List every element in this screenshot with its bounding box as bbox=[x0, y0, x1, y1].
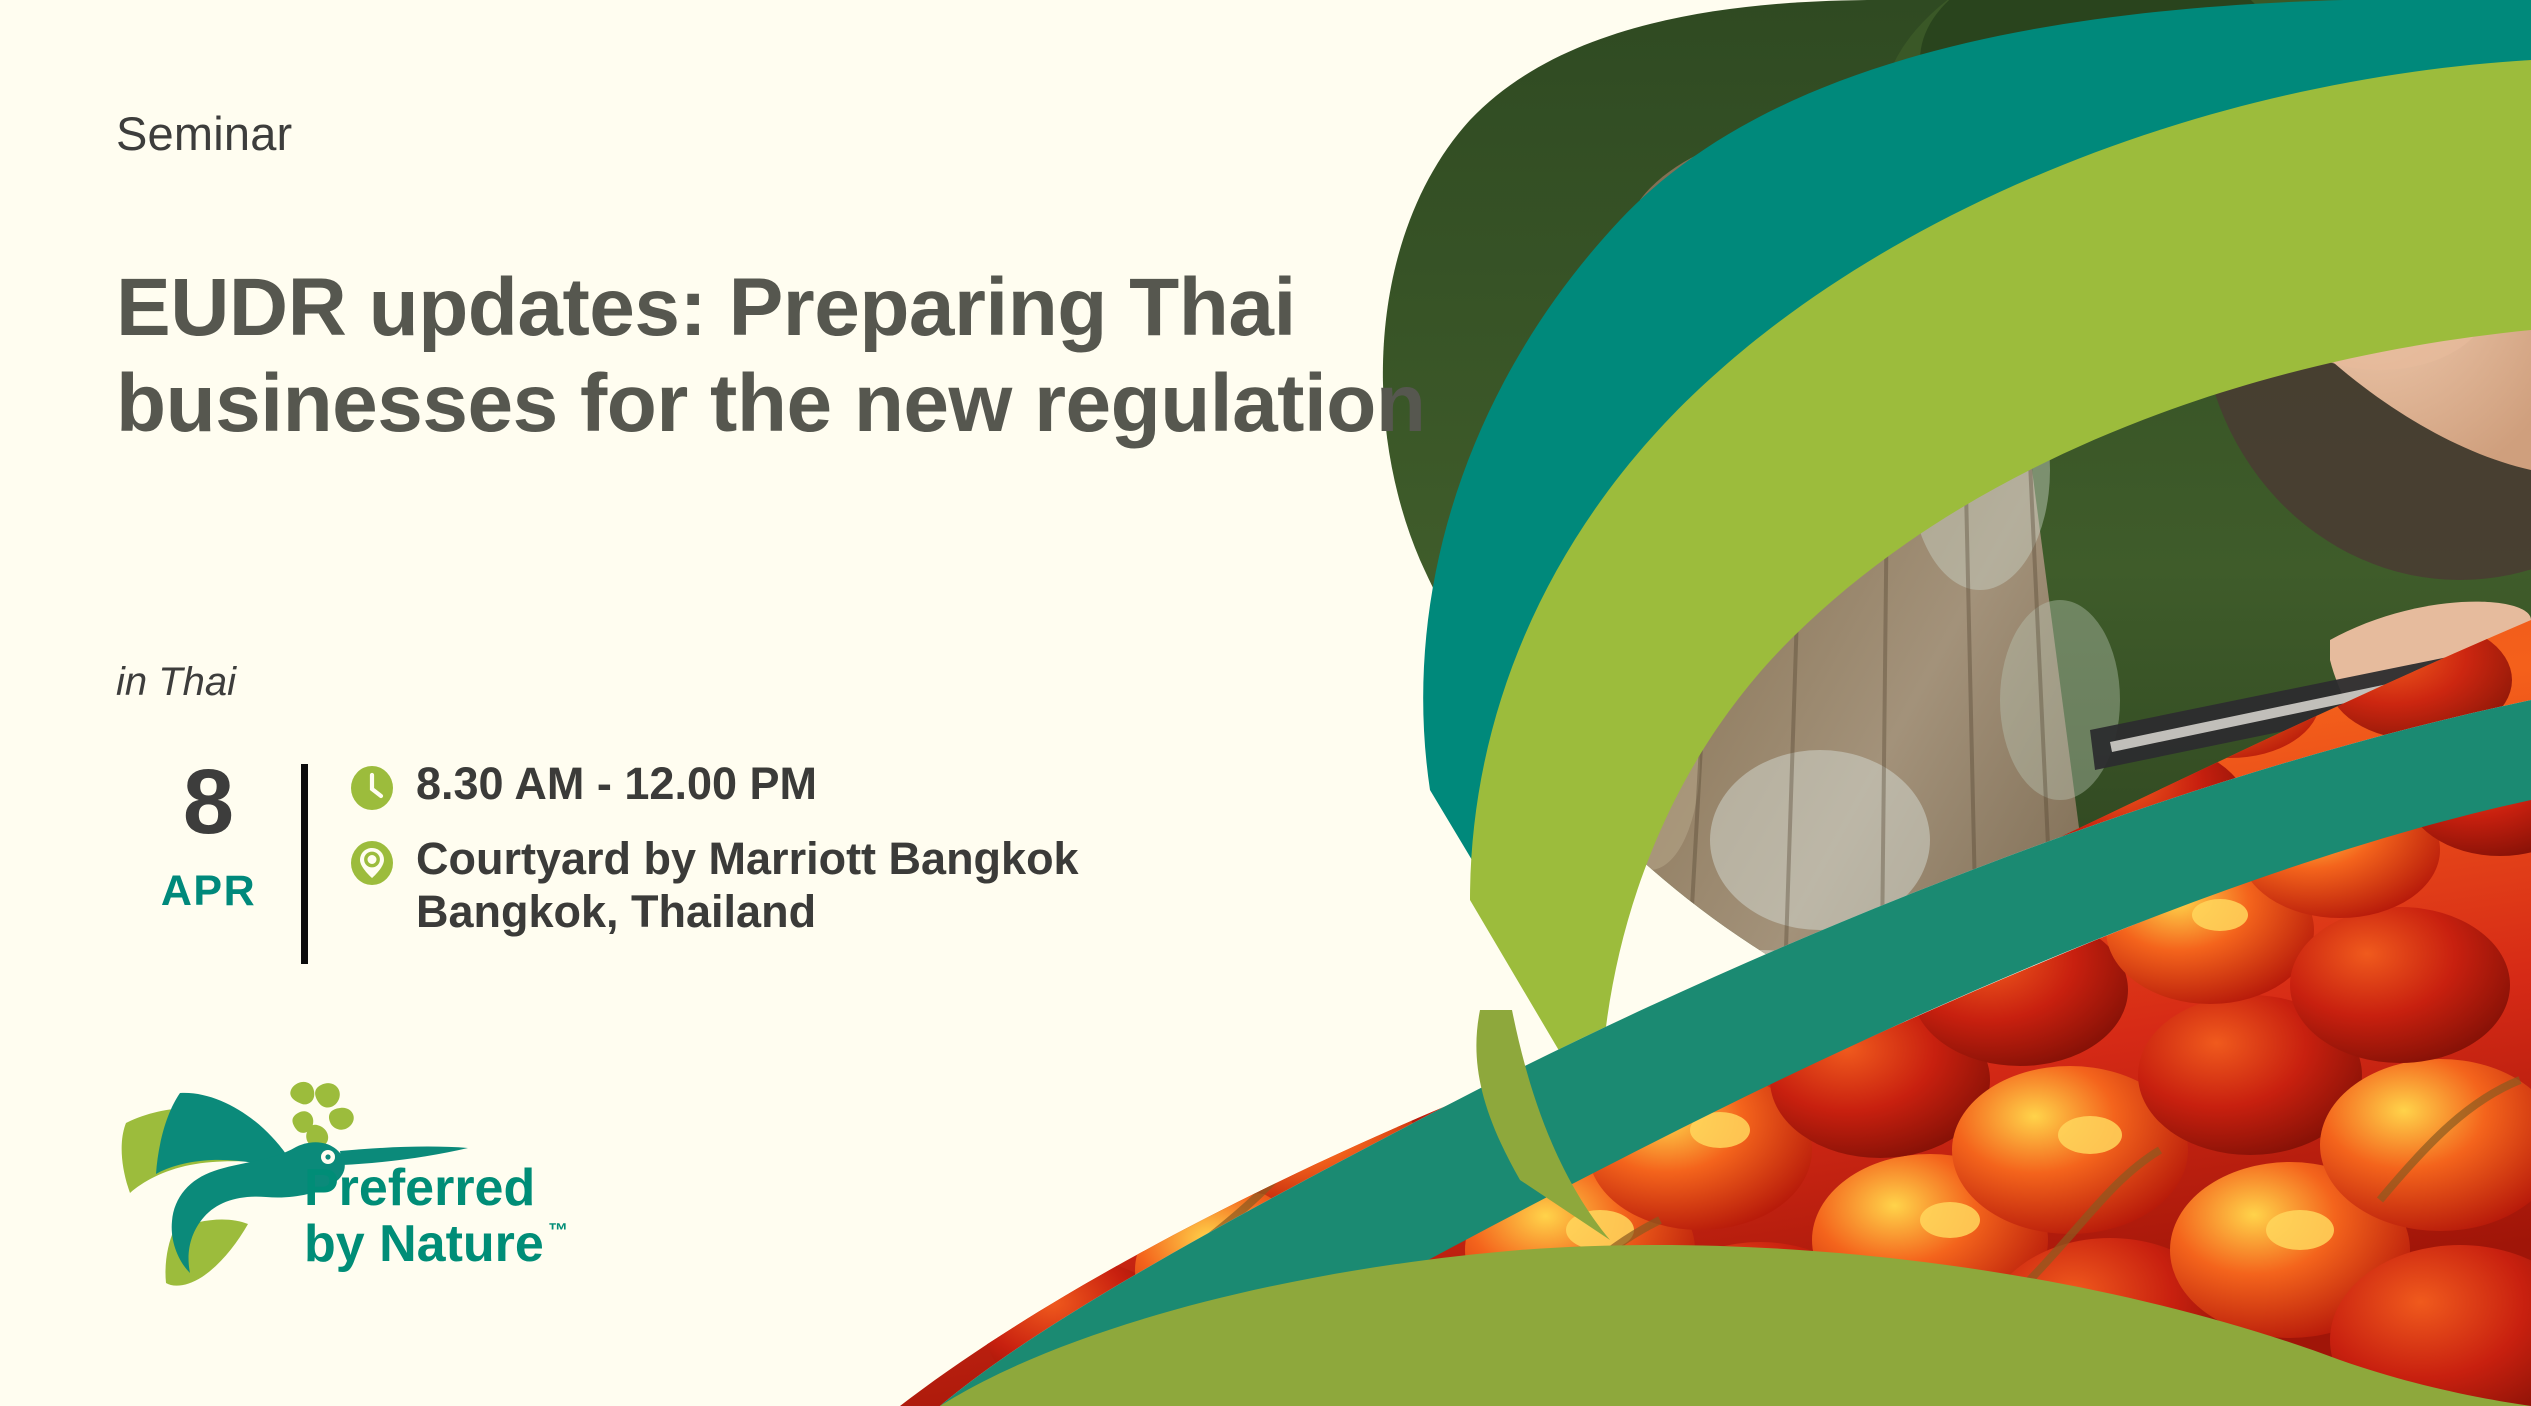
event-location-label: Courtyard by Marriott Bangkok Bangkok, T… bbox=[416, 833, 1079, 938]
flower-icon bbox=[290, 1082, 353, 1147]
language-note: in Thai bbox=[116, 662, 236, 702]
logo-wordmark-line1: Preferred bbox=[304, 1159, 535, 1217]
green-band-top bbox=[1470, 60, 2531, 1120]
event-day: 8 bbox=[116, 760, 301, 845]
page-title: EUDR updates: Preparing Thai businesses … bbox=[116, 260, 1536, 452]
event-promo-banner: Seminar EUDR updates: Preparing Thai bus… bbox=[0, 0, 2531, 1406]
teal-band-top bbox=[1423, 0, 2531, 940]
rubber-tapping-photo bbox=[1350, 0, 2531, 1150]
event-time-row: 8.30 AM - 12.00 PM bbox=[350, 758, 1079, 811]
event-time-label: 8.30 AM - 12.00 PM bbox=[416, 758, 817, 811]
map-pin-icon bbox=[350, 840, 394, 886]
event-meta-row: 8 APR 8.30 AM - 12.00 PM bbox=[116, 752, 1079, 964]
event-date-block: 8 APR bbox=[116, 752, 301, 916]
logo-wordmark-line2: by Nature bbox=[304, 1215, 544, 1273]
preferred-by-nature-logo[interactable]: Preferred by Nature ™ bbox=[116, 1075, 586, 1290]
event-location-row: Courtyard by Marriott Bangkok Bangkok, T… bbox=[350, 833, 1079, 938]
event-info-block: Seminar EUDR updates: Preparing Thai bus… bbox=[116, 0, 1516, 1406]
event-detail-list: 8.30 AM - 12.00 PM Courtyard by Marriott… bbox=[350, 752, 1079, 938]
clock-icon bbox=[350, 765, 394, 811]
event-month: APR bbox=[116, 867, 301, 916]
event-type-label: Seminar bbox=[116, 110, 292, 157]
logo-trademark-symbol: ™ bbox=[548, 1220, 568, 1242]
vertical-divider bbox=[301, 764, 308, 964]
